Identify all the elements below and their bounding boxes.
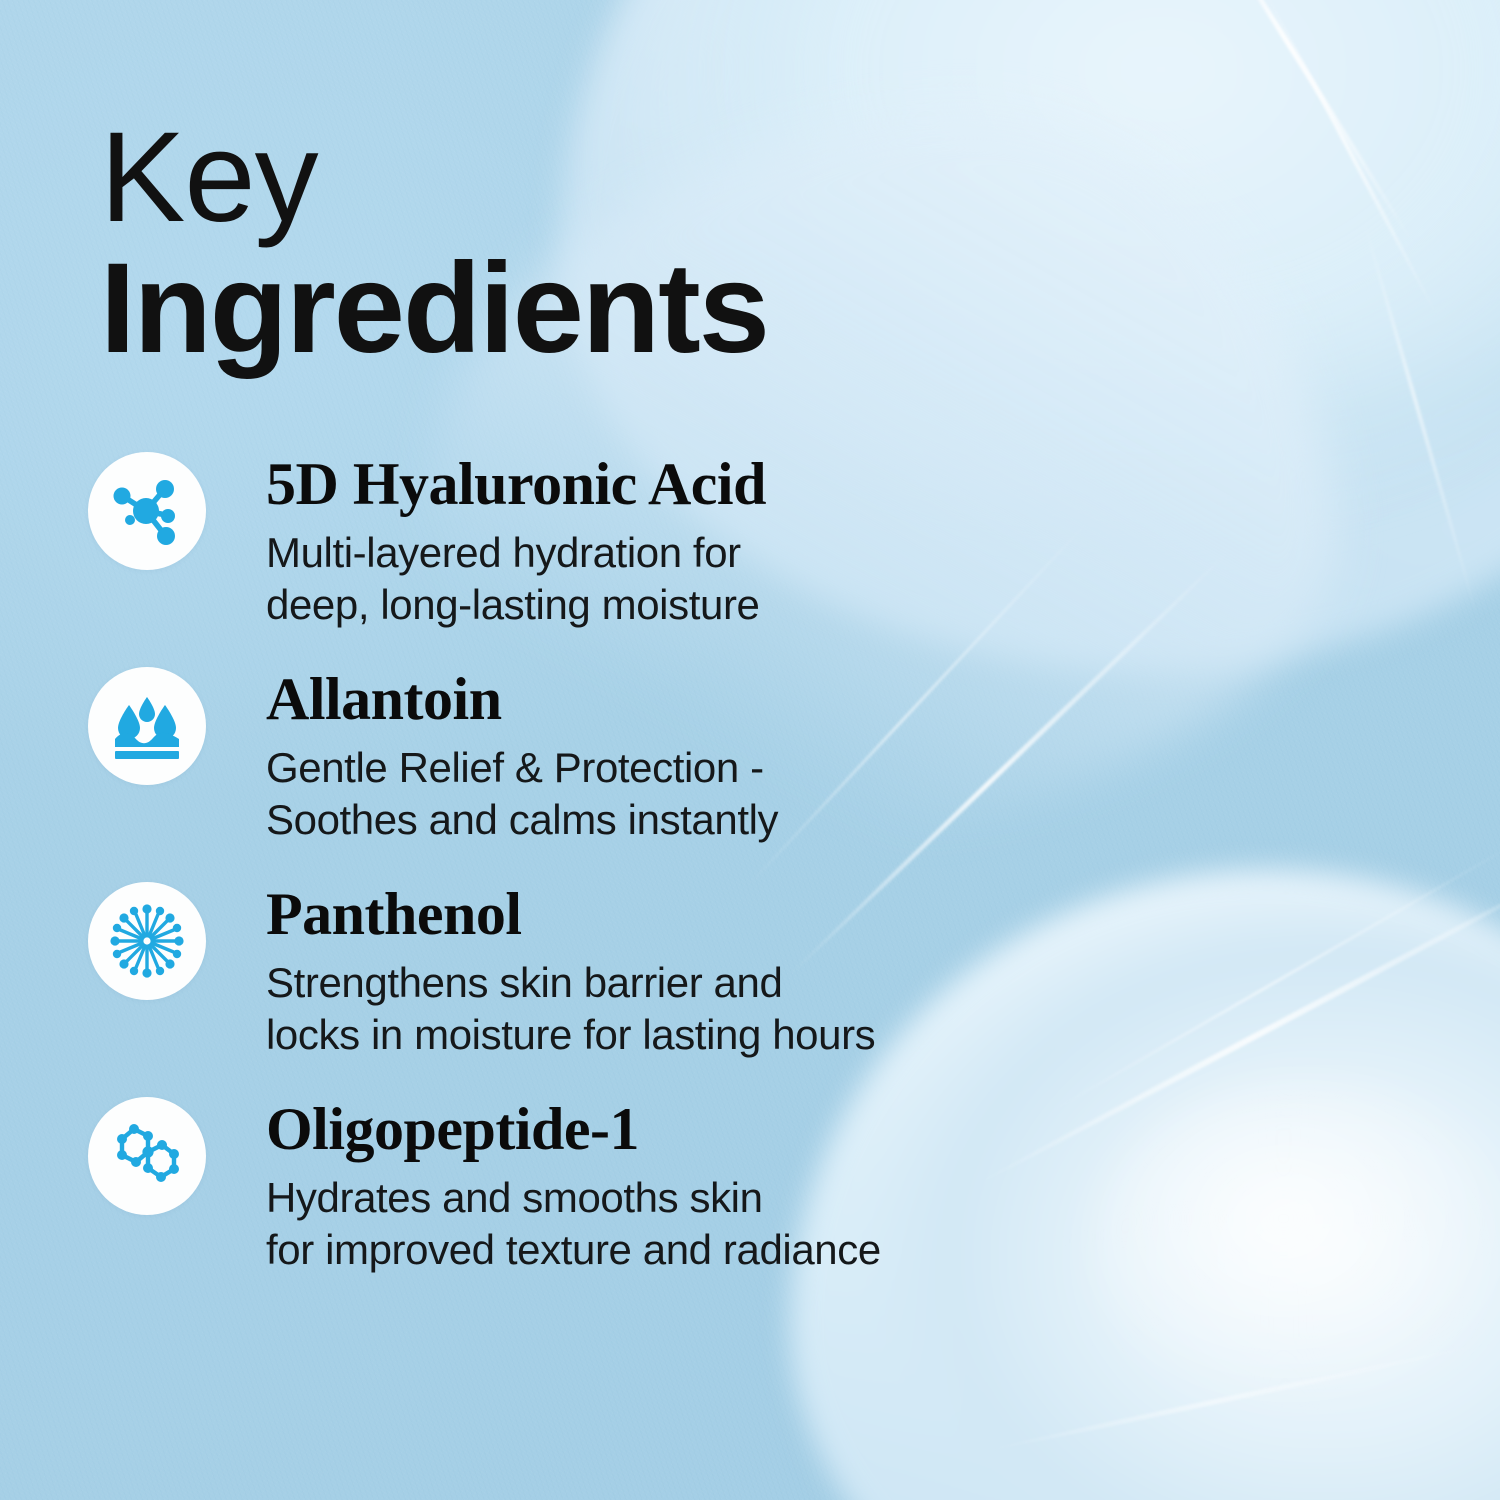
ingredient-list: 5D Hyaluronic Acid Multi-layered hydrati… [88,452,1088,1312]
ingredient-description-line: locks in moisture for lasting hours [266,1009,1088,1061]
peptide-hexagons-icon [88,1097,206,1215]
ingredient-description: Hydrates and smooths skin for improved t… [266,1172,1088,1276]
ingredient-description-line: deep, long-lasting moisture [266,579,1088,631]
content-layer: Key Ingredients [0,0,1500,1500]
ingredient-text: Panthenol Strengthens skin barrier and l… [266,882,1088,1061]
page-title: Key Ingredients [100,117,768,371]
ingredient-name: Panthenol [266,884,1088,945]
ingredient-text: 5D Hyaluronic Acid Multi-layered hydrati… [266,452,1088,631]
ingredient-description-line: Multi-layered hydration for [266,527,1088,579]
key-ingredients-infographic: Key Ingredients [0,0,1500,1500]
ingredient-description: Strengthens skin barrier and locks in mo… [266,957,1088,1061]
water-droplets-icon [88,667,206,785]
molecule-icon [88,452,206,570]
ingredient-item: Oligopeptide-1 Hydrates and smooths skin… [88,1097,1088,1312]
ingredient-name: 5D Hyaluronic Acid [266,454,1088,515]
ingredient-description: Gentle Relief & Protection - Soothes and… [266,742,1088,846]
ingredient-description-line: Hydrates and smooths skin [266,1172,1088,1224]
ingredient-item: 5D Hyaluronic Acid Multi-layered hydrati… [88,452,1088,667]
ingredient-item: Panthenol Strengthens skin barrier and l… [88,882,1088,1097]
page-title-line-1: Key [100,117,768,240]
ingredient-name: Allantoin [266,669,1088,730]
ingredient-description-line: Gentle Relief & Protection - [266,742,1088,794]
ingredient-item: Allantoin Gentle Relief & Protection - S… [88,667,1088,882]
ingredient-text: Oligopeptide-1 Hydrates and smooths skin… [266,1097,1088,1276]
ingredient-description-line: Strengthens skin barrier and [266,957,1088,1009]
ingredient-description-line: Soothes and calms instantly [266,794,1088,846]
page-title-line-2: Ingredients [100,248,768,371]
ingredient-name: Oligopeptide-1 [266,1099,1088,1160]
ingredient-description-line: for improved texture and radiance [266,1224,1088,1276]
ingredient-text: Allantoin Gentle Relief & Protection - S… [266,667,1088,846]
snowflake-burst-icon [88,882,206,1000]
ingredient-description: Multi-layered hydration for deep, long-l… [266,527,1088,631]
